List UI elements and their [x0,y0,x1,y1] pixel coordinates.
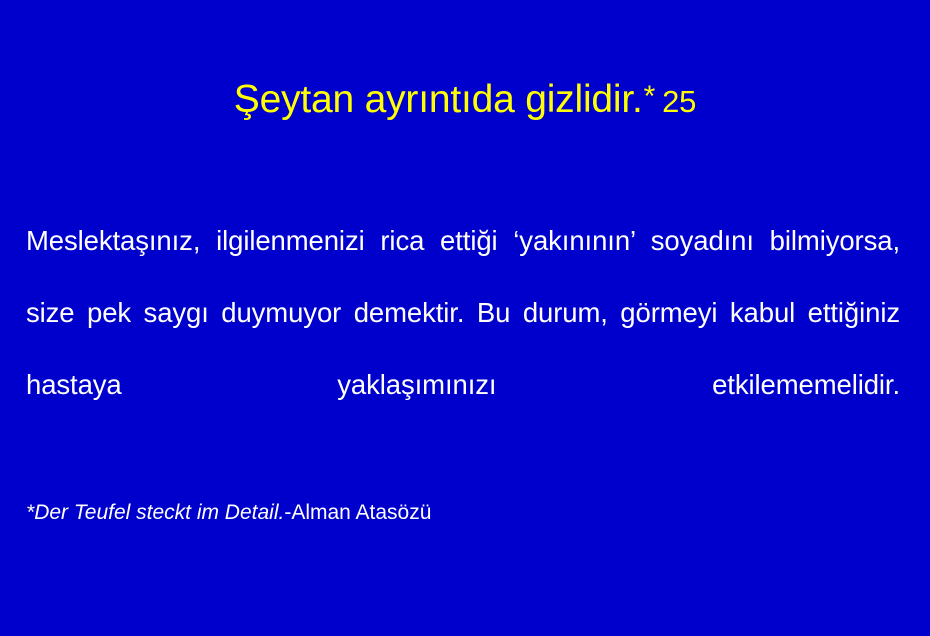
footnote-marker: * [26,501,34,524]
slide-title: Şeytan ayrıntıda gizlidir.*25 [0,78,930,123]
footnote-attribution: -Alman Atasözü [284,501,431,524]
body-text-block: Meslektaşınız, ilgilenmenizi rica ettiği… [26,205,900,493]
slide-canvas: Şeytan ayrıntıda gizlidir.*25 Meslektaşı… [0,0,930,636]
slide-title-footnote-marker: * [643,80,655,113]
body-paragraph: Meslektaşınız, ilgilenmenizi rica ettiği… [26,205,900,493]
slide-title-text: Şeytan ayrıntıda gizlidir. [234,78,643,121]
footnote-quote: Der Teufel steckt im Detail. [34,501,284,524]
footnote: *Der Teufel steckt im Detail.-Alman Atas… [26,499,431,526]
slide-title-number: 25 [655,84,696,119]
